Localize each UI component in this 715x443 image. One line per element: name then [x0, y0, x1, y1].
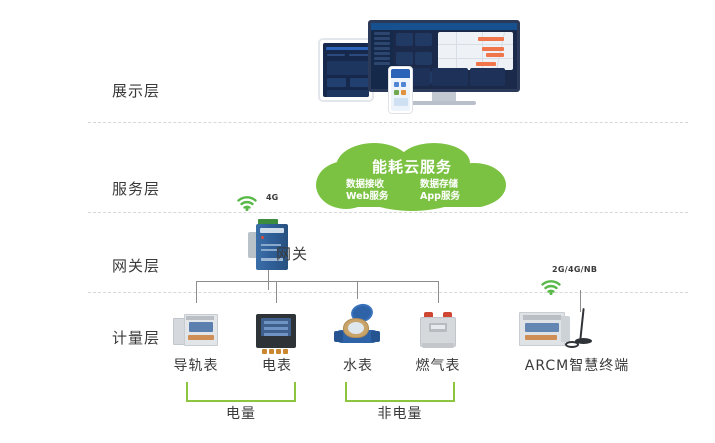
tablet-device: [318, 38, 374, 102]
arcm-terminal-icon: [519, 308, 605, 352]
cloud-left-items: 数据接收 Web服务: [346, 179, 388, 203]
connector-drop-gas: [438, 281, 439, 303]
gateway-label: 网关: [276, 243, 308, 264]
arcm-terminal-label: ARCM智慧终端: [517, 355, 637, 375]
arcm-terminal: [512, 308, 612, 352]
smartphone-device: [388, 66, 413, 114]
connector-drop-din: [196, 281, 197, 303]
din-rail-meter: [159, 312, 233, 348]
cloud-right-items: 数据存储 App服务: [420, 179, 460, 203]
smartphone-screen: [391, 69, 410, 111]
electric-meter: [239, 314, 313, 348]
gas-meter-label: 燃气表: [393, 355, 483, 375]
bracket-electric-label: 电量: [196, 403, 286, 423]
gas-meter-icon: [418, 312, 458, 348]
layer-label-service: 服务层: [112, 178, 160, 199]
monitor-stand-base: [412, 101, 476, 105]
water-meter: [320, 304, 394, 346]
cloud-item-data-storage: 数据存储: [420, 179, 460, 191]
water-meter-icon: [334, 304, 380, 346]
cloud-title: 能耗云服务: [316, 156, 508, 177]
cloud-item-data-receive: 数据接收: [346, 179, 388, 191]
cloud-service: 能耗云服务 数据接收 Web服务 数据存储 App服务: [316, 143, 508, 211]
gateway-network-label: 4G: [266, 193, 278, 202]
din-rail-meter-label: 导轨表: [151, 355, 241, 375]
layer-label-metering: 计量层: [112, 327, 160, 348]
connector-drop-water: [357, 281, 358, 299]
connector-gateway-drop: [268, 270, 269, 290]
divider-service-gateway: [88, 212, 688, 213]
divider-gateway-metering: [88, 292, 688, 293]
arcm-network-label: 2G/4G/NB: [552, 265, 597, 274]
divider-presentation-service: [88, 122, 688, 123]
electric-meter-label: 电表: [232, 355, 322, 375]
bracket-non-electric-label: 非电量: [355, 403, 445, 423]
wifi-signal-icon: [236, 194, 258, 211]
monitor-titlebar: [371, 23, 517, 30]
layer-label-presentation: 展示层: [112, 80, 160, 101]
bracket-electric: [186, 382, 296, 402]
bracket-non-electric: [345, 382, 455, 402]
connector-drop-electric: [276, 281, 277, 303]
monitor-stat-cards: [395, 32, 435, 67]
layer-label-gateway: 网关层: [112, 255, 160, 276]
arcm-wifi-icon: [540, 278, 562, 295]
gas-meter: [401, 312, 475, 348]
architecture-diagram: 展示层 服务层 网关层 计量层: [0, 0, 715, 443]
water-meter-label: 水表: [313, 355, 403, 375]
din-rail-meter-icon: [173, 312, 219, 348]
connector-bus: [196, 281, 438, 282]
cloud-item-app-service: App服务: [420, 191, 460, 203]
monitor-map-panel: [438, 32, 513, 70]
tablet-screen: [323, 43, 369, 97]
cloud-item-web-service: Web服务: [346, 191, 388, 203]
electric-meter-icon: [256, 314, 296, 348]
